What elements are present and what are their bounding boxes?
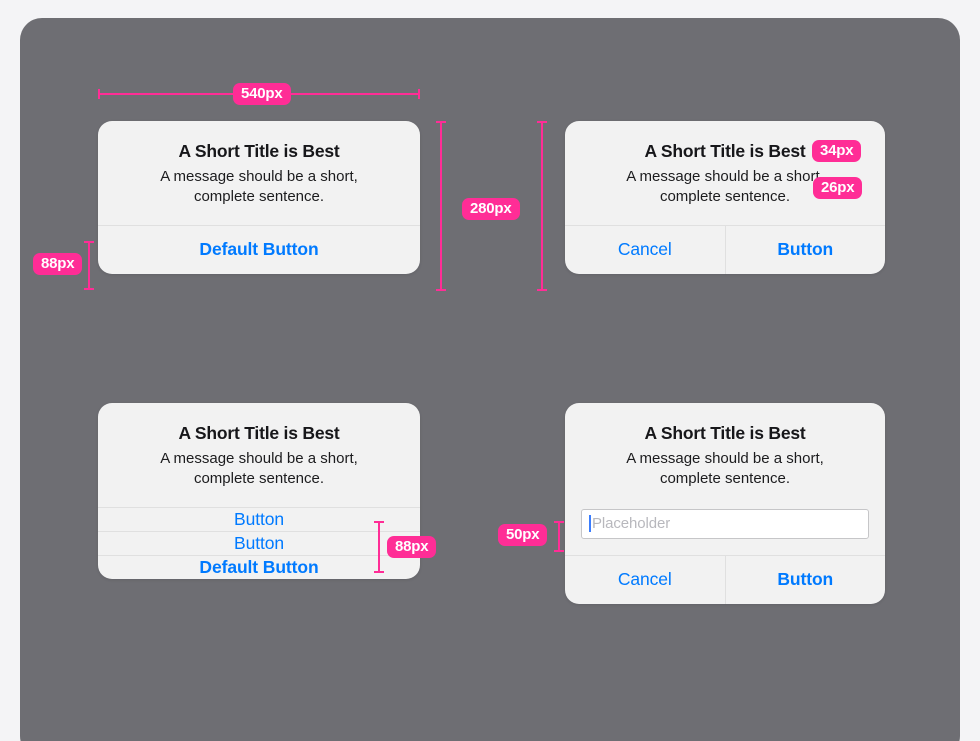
alert-message-line-2: complete sentence.: [660, 470, 790, 487]
measure-rule-alert-height-right: [541, 121, 543, 291]
alert-message: A message should be a short, complete se…: [581, 449, 869, 489]
alert-button-second[interactable]: Button: [98, 531, 420, 555]
alert-button-default[interactable]: Default Button: [98, 226, 420, 274]
alert-message-line-1: A message should be a short,: [626, 450, 824, 467]
alert-message-line-1: A message should be a short,: [160, 450, 358, 467]
measure-badge-button-height-stacked: 88px: [387, 536, 436, 558]
measure-badge-title-size: 34px: [812, 140, 861, 162]
alert-title: A Short Title is Best: [581, 423, 869, 445]
measure-badge-alert-height: 280px: [462, 198, 520, 220]
alert-button-confirm[interactable]: Button: [725, 226, 886, 274]
alert-text-input[interactable]: Placeholder: [581, 509, 869, 539]
alert-message: A message should be a short, complete se…: [114, 449, 404, 489]
alert-header: A Short Title is Best A message should b…: [565, 403, 885, 507]
measure-badge-alert-width: 540px: [233, 83, 291, 105]
measure-badge-button-height-top: 88px: [33, 253, 82, 275]
alert-message-line-2: complete sentence.: [194, 470, 324, 487]
alert-single-button: A Short Title is Best A message should b…: [98, 121, 420, 274]
alert-actions: Cancel Button: [565, 225, 885, 274]
alert-button-cancel[interactable]: Cancel: [565, 226, 725, 274]
alert-message-line-2: complete sentence.: [660, 188, 790, 205]
text-cursor-icon: [589, 515, 591, 532]
measure-rule-button-height-stacked: [378, 521, 380, 573]
alert-button-cancel[interactable]: Cancel: [565, 556, 725, 604]
measure-rule-text-field-height: [558, 521, 560, 552]
alert-header: A Short Title is Best A message should b…: [98, 403, 420, 507]
spec-sheet-canvas: 540px 280px 88px A Short Title is Best A…: [0, 0, 980, 741]
measure-rule-alert-height-left: [440, 121, 442, 291]
measure-rule-button-height-top: [88, 241, 90, 290]
alert-actions: Cancel Button: [565, 555, 885, 604]
alert-header: A Short Title is Best A message should b…: [565, 121, 885, 225]
text-field-container: Placeholder: [565, 507, 885, 555]
measure-badge-message-size: 26px: [813, 177, 862, 199]
alert-message-line-1: A message should be a short,: [626, 168, 824, 185]
alert-title: A Short Title is Best: [114, 141, 404, 163]
alert-message-line-1: A message should be a short,: [160, 168, 358, 185]
alert-title: A Short Title is Best: [114, 423, 404, 445]
alert-actions: Default Button: [98, 225, 420, 274]
alert-message-line-2: complete sentence.: [194, 188, 324, 205]
alert-actions: Button Button Default Button: [98, 507, 420, 579]
alert-message: A message should be a short, complete se…: [114, 167, 404, 207]
alert-with-text-field: A Short Title is Best A message should b…: [565, 403, 885, 604]
alert-header: A Short Title is Best A message should b…: [98, 121, 420, 225]
alert-stacked-buttons: A Short Title is Best A message should b…: [98, 403, 420, 579]
alert-button-first[interactable]: Button: [98, 508, 420, 531]
alert-button-default[interactable]: Default Button: [98, 555, 420, 579]
text-field-placeholder: Placeholder: [592, 515, 670, 532]
alert-button-confirm[interactable]: Button: [725, 556, 886, 604]
measure-badge-text-field-height: 50px: [498, 524, 547, 546]
